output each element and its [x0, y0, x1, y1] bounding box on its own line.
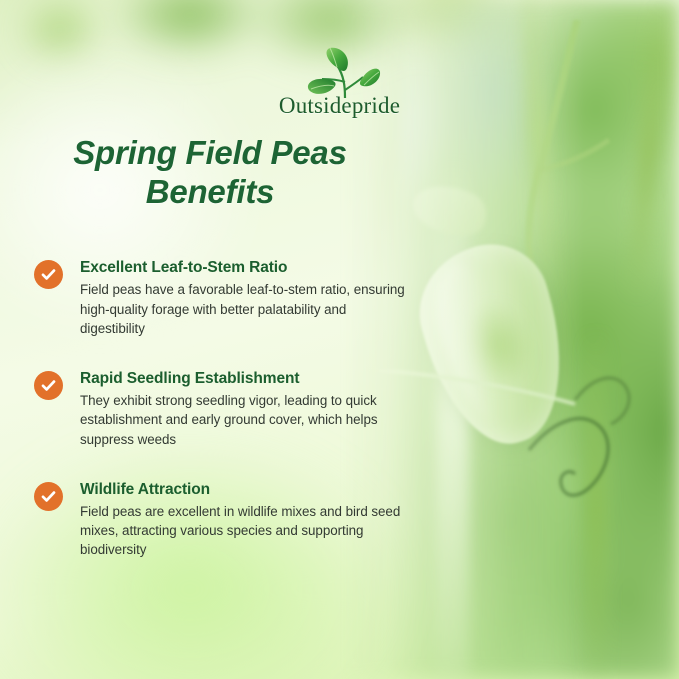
page-title: Spring Field Peas Benefits [40, 134, 380, 211]
infographic-card: Outsidepride Spring Field Peas Benefits … [0, 0, 679, 679]
benefit-description: Field peas are excellent in wildlife mix… [80, 502, 410, 559]
benefit-title: Wildlife Attraction [80, 480, 434, 499]
page-title-line-2: Benefits [40, 173, 380, 212]
benefit-description: They exhibit strong seedling vigor, lead… [80, 391, 410, 448]
brand-name: Outsidepride [0, 93, 679, 119]
benefit-title: Excellent Leaf-to-Stem Ratio [80, 258, 434, 277]
brand-logo[interactable]: Outsidepride [0, 46, 679, 119]
benefit-title: Rapid Seedling Establishment [80, 369, 434, 388]
page-title-line-1: Spring Field Peas [40, 134, 380, 173]
benefit-item: Wildlife Attraction Field peas are excel… [34, 480, 434, 560]
benefits-list: Excellent Leaf-to-Stem Ratio Field peas … [34, 258, 434, 560]
benefit-description: Field peas have a favorable leaf-to-stem… [80, 280, 410, 337]
benefit-item: Excellent Leaf-to-Stem Ratio Field peas … [34, 258, 434, 338]
leaf-sprig-icon [297, 46, 383, 100]
benefit-item: Rapid Seedling Establishment They exhibi… [34, 369, 434, 449]
check-circle-icon [34, 482, 63, 511]
check-circle-icon [34, 260, 63, 289]
check-circle-icon [34, 371, 63, 400]
